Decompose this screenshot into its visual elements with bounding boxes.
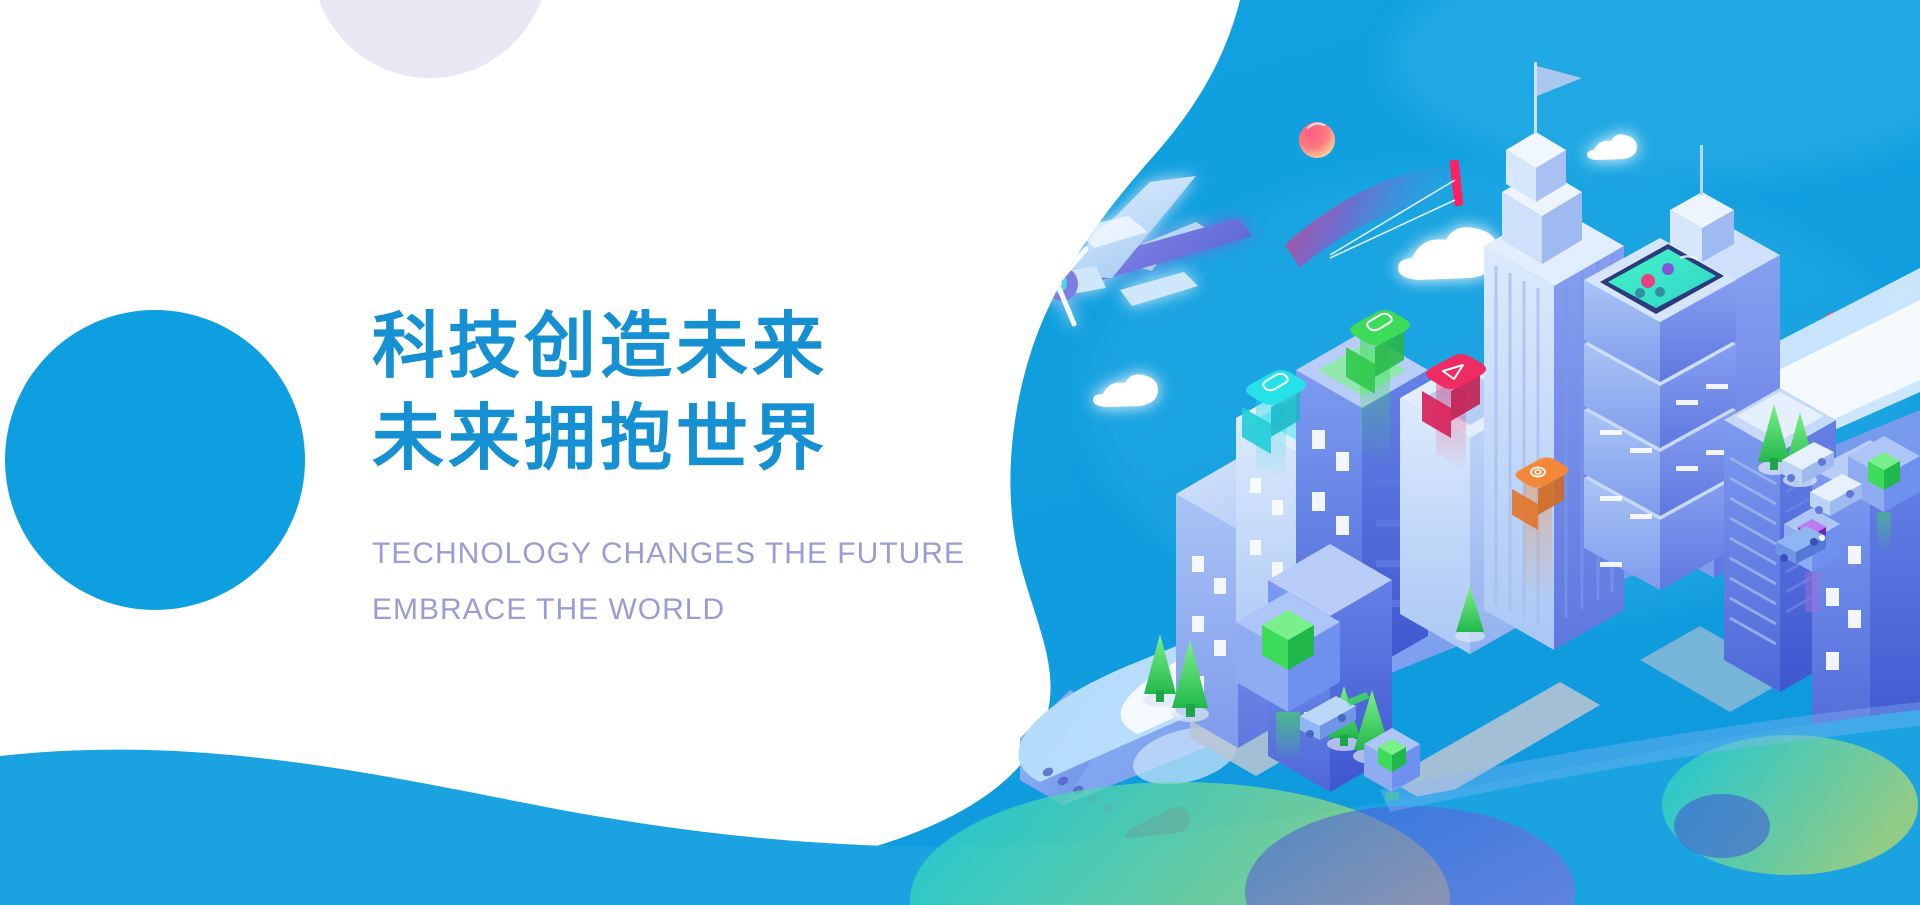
- hero-banner: 科技创造未来 未来拥抱世界 TECHNOLOGY CHANGES THE FUT…: [0, 0, 1920, 905]
- hero-subtitle-block: TECHNOLOGY CHANGES THE FUTURE EMBRACE TH…: [372, 526, 1052, 638]
- hero-title-line-1: 科技创造未来: [372, 300, 1052, 392]
- hero-text-block: 科技创造未来 未来拥抱世界 TECHNOLOGY CHANGES THE FUT…: [372, 300, 1052, 638]
- hero-title-line-2: 未来拥抱世界: [372, 392, 1052, 484]
- hero-subtitle-line-2: EMBRACE THE WORLD: [372, 582, 1052, 638]
- blue-circle-decor: [5, 310, 305, 610]
- pink-orange-sphere: [1299, 122, 1335, 158]
- hero-subtitle-line-1: TECHNOLOGY CHANGES THE FUTURE: [372, 526, 1052, 582]
- flag-pole: [1534, 62, 1537, 134]
- tower-layered-tablet: [1584, 238, 1736, 590]
- purple-blob-right-small: [1674, 794, 1770, 858]
